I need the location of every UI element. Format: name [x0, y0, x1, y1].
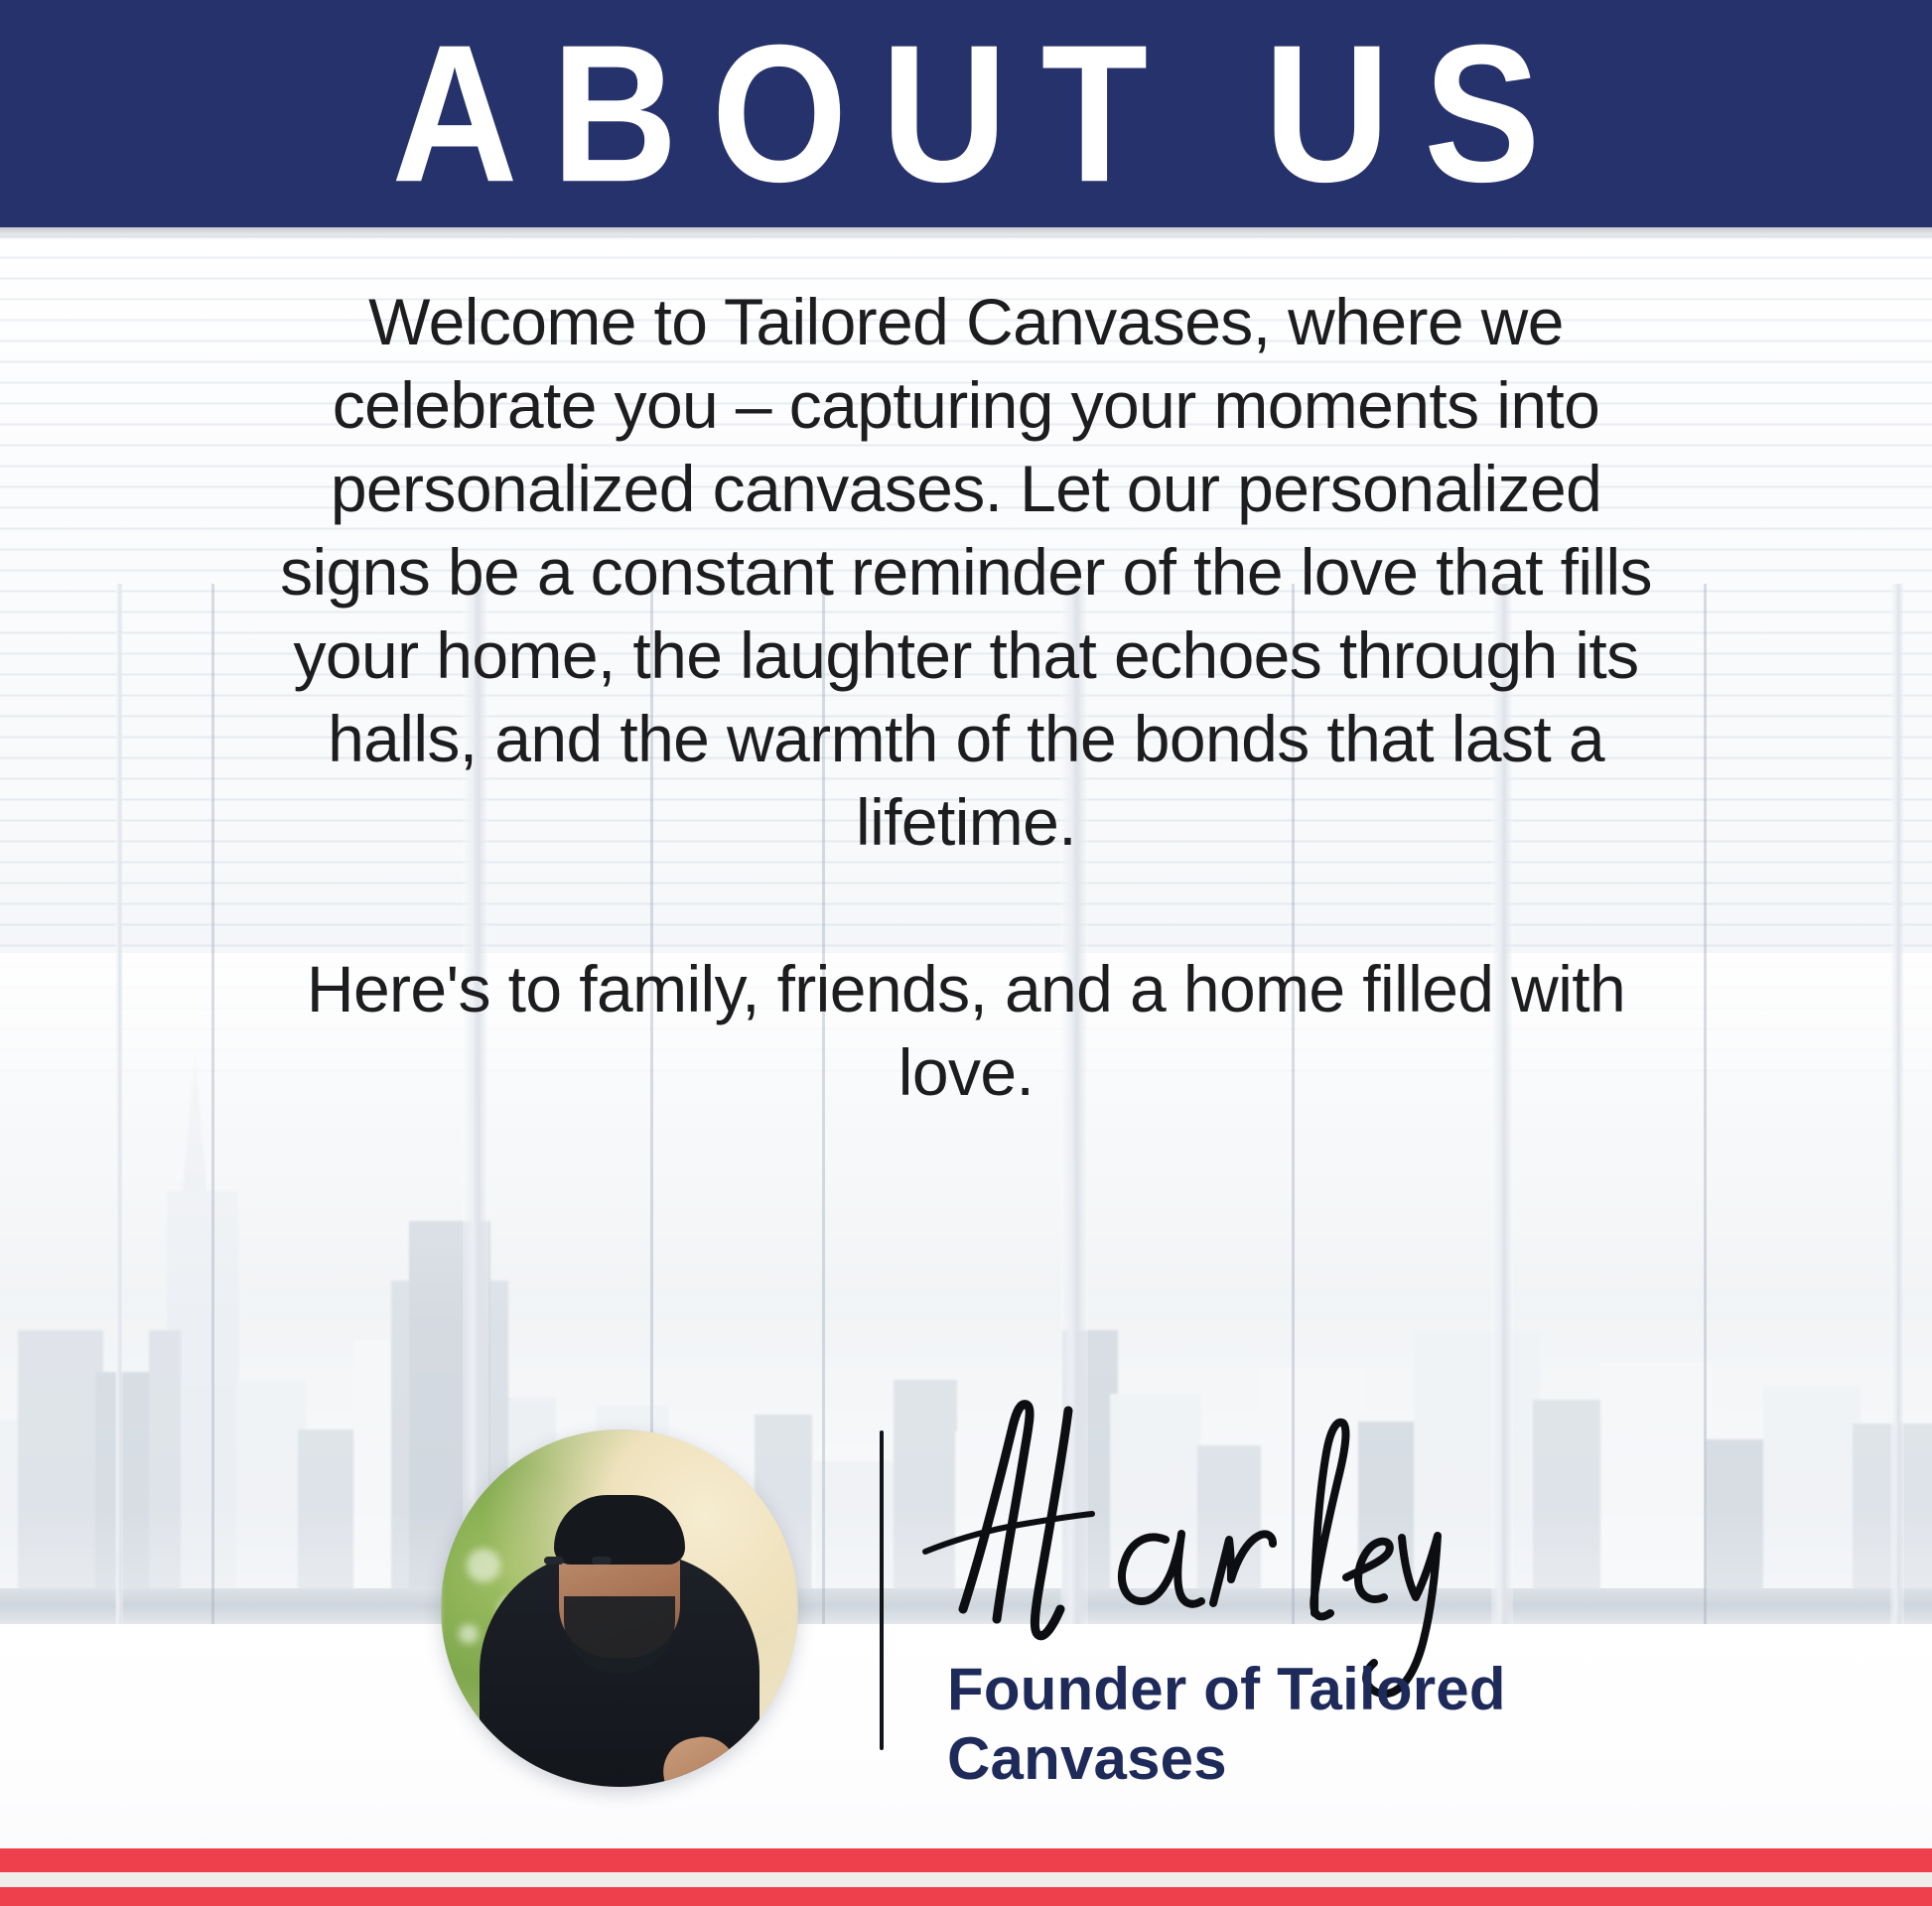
page-header: ABOUT US [0, 0, 1932, 227]
copy-paragraph-1: Welcome to Tailored Canvases, where we c… [248, 280, 1684, 864]
copy-paragraph-2: Here's to family, friends, and a home fi… [248, 947, 1684, 1114]
footer-stripe-top [0, 1848, 1932, 1872]
header-drop-shadow [0, 227, 1932, 240]
footer-stripe-bottom [0, 1887, 1932, 1906]
signature-block: Founder of TailoredCanvases [0, 1385, 1932, 1812]
avatar-eye-right [592, 1557, 612, 1565]
avatar [441, 1429, 798, 1787]
paragraph-spacer [248, 864, 1684, 947]
about-us-poster: ABOUT US Welcome to Tailored Canvases, w… [0, 0, 1932, 1906]
signature-harley [894, 1365, 1509, 1693]
about-us-copy: Welcome to Tailored Canvases, where we c… [0, 280, 1932, 1114]
founder-role: Founder of TailoredCanvases [947, 1655, 1506, 1794]
vertical-divider [880, 1430, 884, 1750]
role-line-2: Canvases [947, 1725, 1227, 1792]
role-line-1: Founder of Tailored [947, 1656, 1506, 1722]
footer-stripe-gap [0, 1872, 1932, 1887]
avatar-eye-left [544, 1557, 564, 1565]
page-title: ABOUT US [357, 16, 1574, 211]
avatar-hand [658, 1731, 744, 1787]
